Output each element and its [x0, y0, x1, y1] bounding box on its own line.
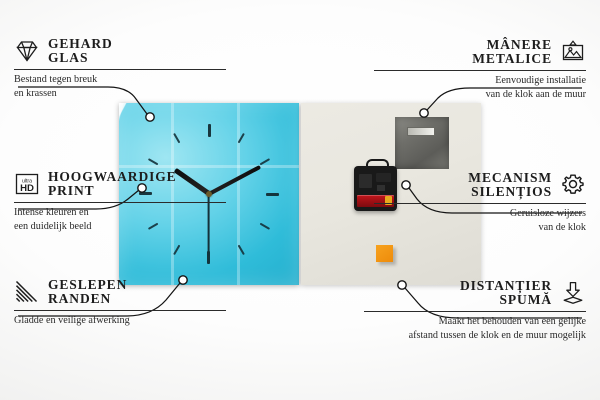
- glass-seam-mid: [119, 165, 299, 168]
- feature-description: Bestand tegen breuk en krassen: [14, 73, 226, 100]
- desc-line: afstand tussen de klok en de muur mogeli…: [364, 329, 586, 342]
- title-line: MÂNERE: [472, 38, 552, 52]
- feature-title: DISTANȚIER SPUMĂ: [460, 279, 552, 307]
- feature-description: Maakt het behouden van een gelijke afsta…: [364, 315, 586, 342]
- feature-title: GEHARD GLAS: [48, 37, 113, 65]
- title-line: GEHARD: [48, 37, 113, 51]
- glass-seam-right: [237, 103, 240, 285]
- divider: [374, 70, 586, 71]
- foam-spacer: [376, 245, 393, 262]
- gear-icon: [560, 172, 586, 198]
- feature-description: Intense kleuren en een duidelijk beeld: [14, 206, 226, 233]
- feature-description: Eenvoudige installatie van de klok aan d…: [374, 74, 586, 101]
- feature-heading: DISTANȚIER SPUMĂ: [364, 279, 586, 307]
- feature-distantier-spuma: DISTANȚIER SPUMĂ Maakt het behouden van …: [364, 279, 586, 342]
- divider: [14, 310, 226, 311]
- feature-manere-metalice: MÂNERE METALICE Eenvoudige installatie v…: [374, 38, 586, 101]
- feature-title: GESLEPEN RANDEN: [48, 278, 127, 306]
- title-line: SPUMĂ: [460, 293, 552, 307]
- desc-line: een duidelijk beeld: [14, 220, 226, 233]
- desc-line: Bestand tegen breuk: [14, 73, 226, 86]
- feature-heading: ultra HD HOOGWAARDIGE PRINT: [14, 170, 226, 198]
- desc-line: Eenvoudige installatie: [374, 74, 586, 87]
- feature-heading: GEHARD GLAS: [14, 37, 226, 65]
- desc-line: Intense kleuren en: [14, 206, 226, 219]
- metal-hanger-plate: [395, 117, 449, 169]
- feature-title: MECANISM SILENȚIOS: [468, 171, 552, 199]
- desc-line: Maakt het behouden van een gelijke: [364, 315, 586, 328]
- title-line: GLAS: [48, 51, 113, 65]
- picture-frame-icon: [560, 39, 586, 65]
- desc-line: en krassen: [14, 87, 226, 100]
- divider: [364, 311, 586, 312]
- title-line: DISTANȚIER: [460, 279, 552, 293]
- polished-edges-icon: [14, 279, 40, 305]
- feature-description: Geruisloze wijzers van de klok: [374, 207, 586, 234]
- title-line: METALICE: [472, 52, 552, 66]
- spacer-arrow-icon: [560, 280, 586, 306]
- svg-text:HD: HD: [20, 183, 34, 194]
- divider: [374, 203, 586, 204]
- feature-heading: MECANISM SILENȚIOS: [374, 171, 586, 199]
- divider: [14, 69, 226, 70]
- infographic-canvas: GEHARD GLAS Bestand tegen breuk en krass…: [0, 0, 600, 400]
- feature-title: HOOGWAARDIGE PRINT: [48, 170, 177, 198]
- diamond-icon: [14, 38, 40, 64]
- title-line: PRINT: [48, 184, 177, 198]
- mechanism-hanger-loop: [366, 159, 389, 171]
- feature-geslepen-randen: GESLEPEN RANDEN Gladde en veilige afwerk…: [14, 278, 226, 328]
- title-line: MECANISM: [468, 171, 552, 185]
- mechanism-detail: [359, 174, 372, 188]
- divider: [14, 202, 226, 203]
- desc-line: Geruisloze wijzers: [374, 207, 586, 220]
- desc-line: Gladde en veilige afwerking: [14, 314, 226, 327]
- title-line: GESLEPEN: [48, 278, 127, 292]
- title-line: SILENȚIOS: [468, 185, 552, 199]
- feature-description: Gladde en veilige afwerking: [14, 314, 226, 327]
- desc-line: van de klok: [374, 221, 586, 234]
- title-line: RANDEN: [48, 292, 127, 306]
- feature-gehard-glas: GEHARD GLAS Bestand tegen breuk en krass…: [14, 37, 226, 100]
- title-line: HOOGWAARDIGE: [48, 170, 177, 184]
- ultra-hd-icon: ultra HD: [14, 171, 40, 197]
- feature-heading: GESLEPEN RANDEN: [14, 278, 226, 306]
- desc-line: van de klok aan de muur: [374, 88, 586, 101]
- hanger-slot: [407, 127, 435, 136]
- feature-hoogwaardige-print: ultra HD HOOGWAARDIGE PRINT Intense kleu…: [14, 170, 226, 233]
- feature-heading: MÂNERE METALICE: [374, 38, 586, 66]
- feature-mecanism-silentios: MECANISM SILENȚIOS Geruisloze wijzers va…: [374, 171, 586, 234]
- feature-title: MÂNERE METALICE: [472, 38, 552, 66]
